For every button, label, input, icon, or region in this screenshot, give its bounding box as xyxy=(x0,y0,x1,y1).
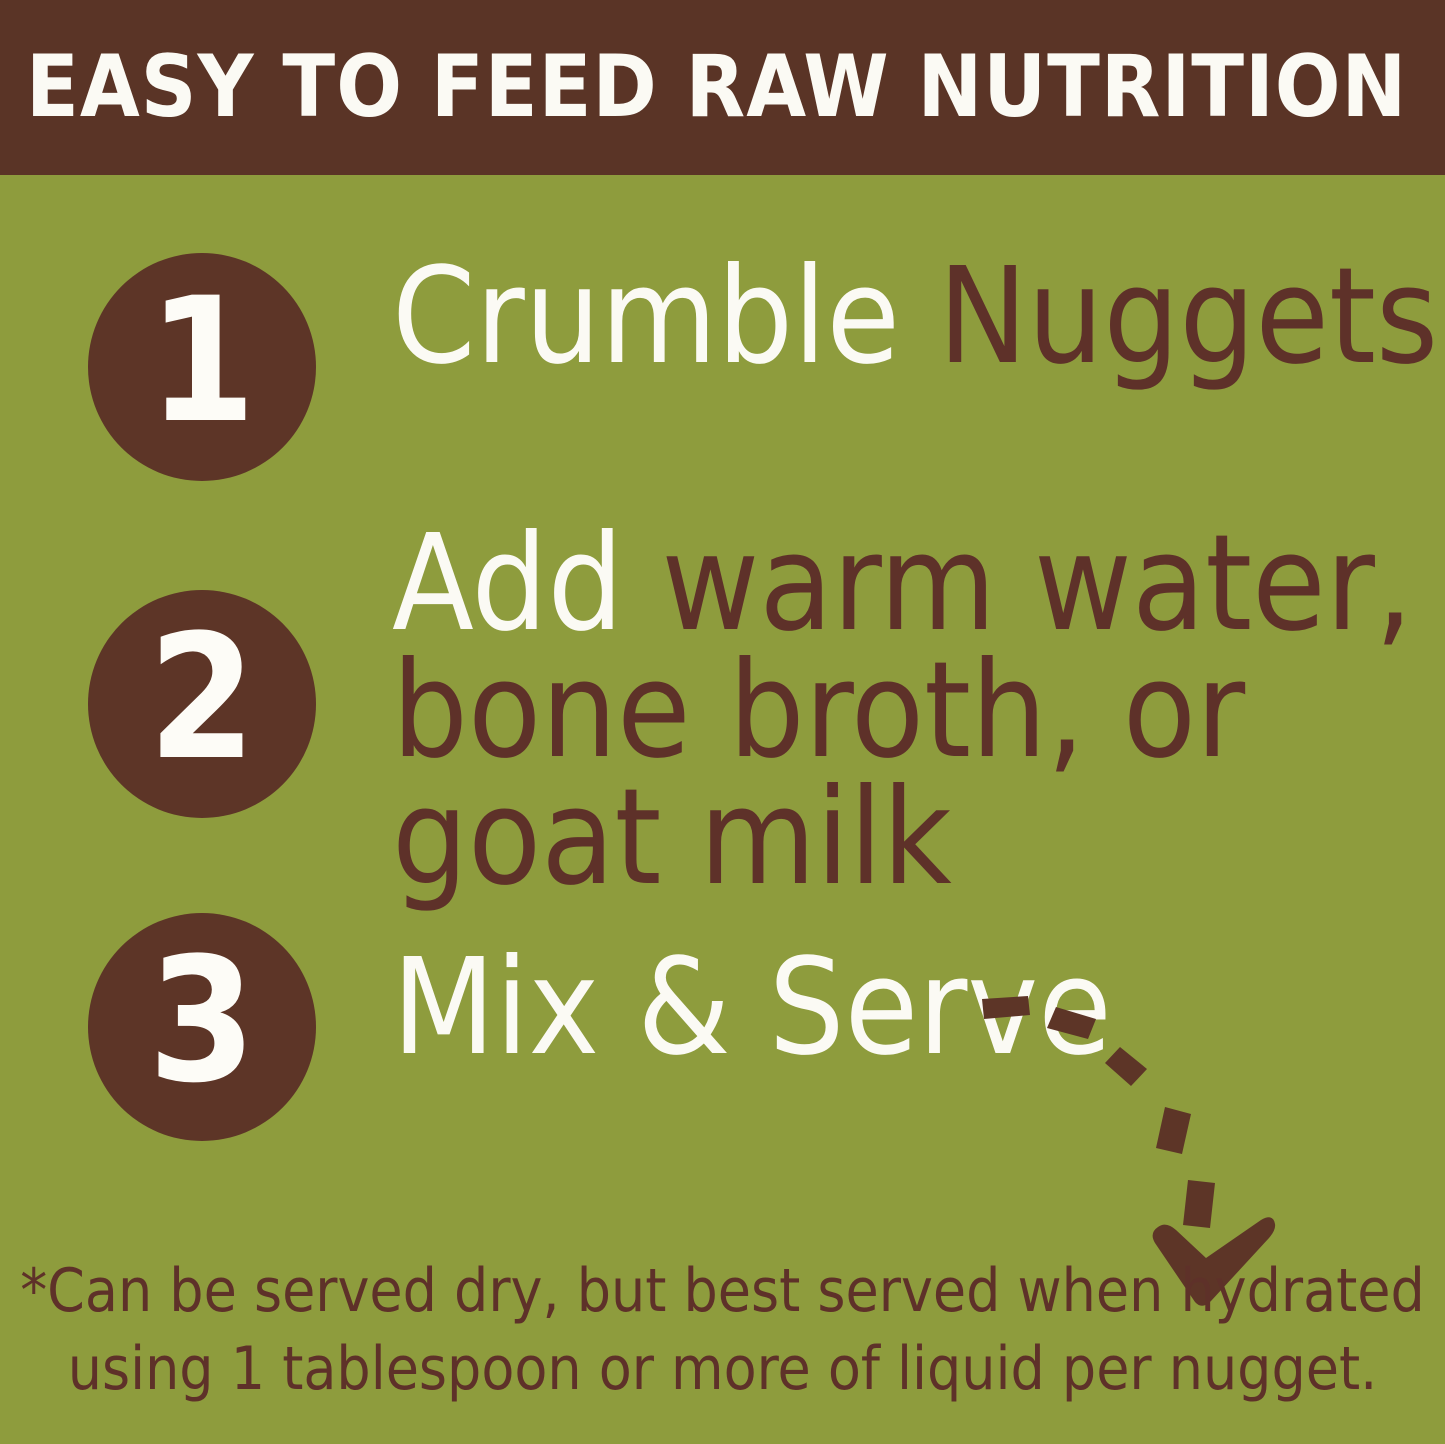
step-badge-2: 2 xyxy=(88,590,316,818)
step-label-1: Crumble Nuggets xyxy=(392,251,1438,384)
step-2-line-2: bone broth, or xyxy=(392,645,1413,778)
steps-list: 1 Crumble Nuggets 2 Add warm water, bone… xyxy=(0,175,1445,1235)
step-number-3: 3 xyxy=(148,935,256,1107)
step-1-rest-text: Nuggets xyxy=(900,240,1438,394)
footnote: *Can be served dry, but best served when… xyxy=(0,1252,1445,1408)
step-2-line-3: goat milk xyxy=(392,772,1413,905)
footnote-line-1: *Can be served dry, but best served when… xyxy=(0,1252,1445,1330)
step-1-lead-word: Crumble xyxy=(392,240,900,394)
page-title: EASY TO FEED RAW NUTRITION xyxy=(26,44,1406,130)
step-number-2: 2 xyxy=(148,612,256,784)
header-banner: EASY TO FEED RAW NUTRITION xyxy=(0,0,1445,175)
footnote-line-2: using 1 tablespoon or more of liquid per… xyxy=(0,1330,1445,1408)
step-badge-1: 1 xyxy=(88,253,316,481)
step-number-1: 1 xyxy=(148,275,256,447)
step-badge-3: 3 xyxy=(88,913,316,1141)
step-label-2: Add warm water, bone broth, or goat milk xyxy=(392,518,1413,905)
